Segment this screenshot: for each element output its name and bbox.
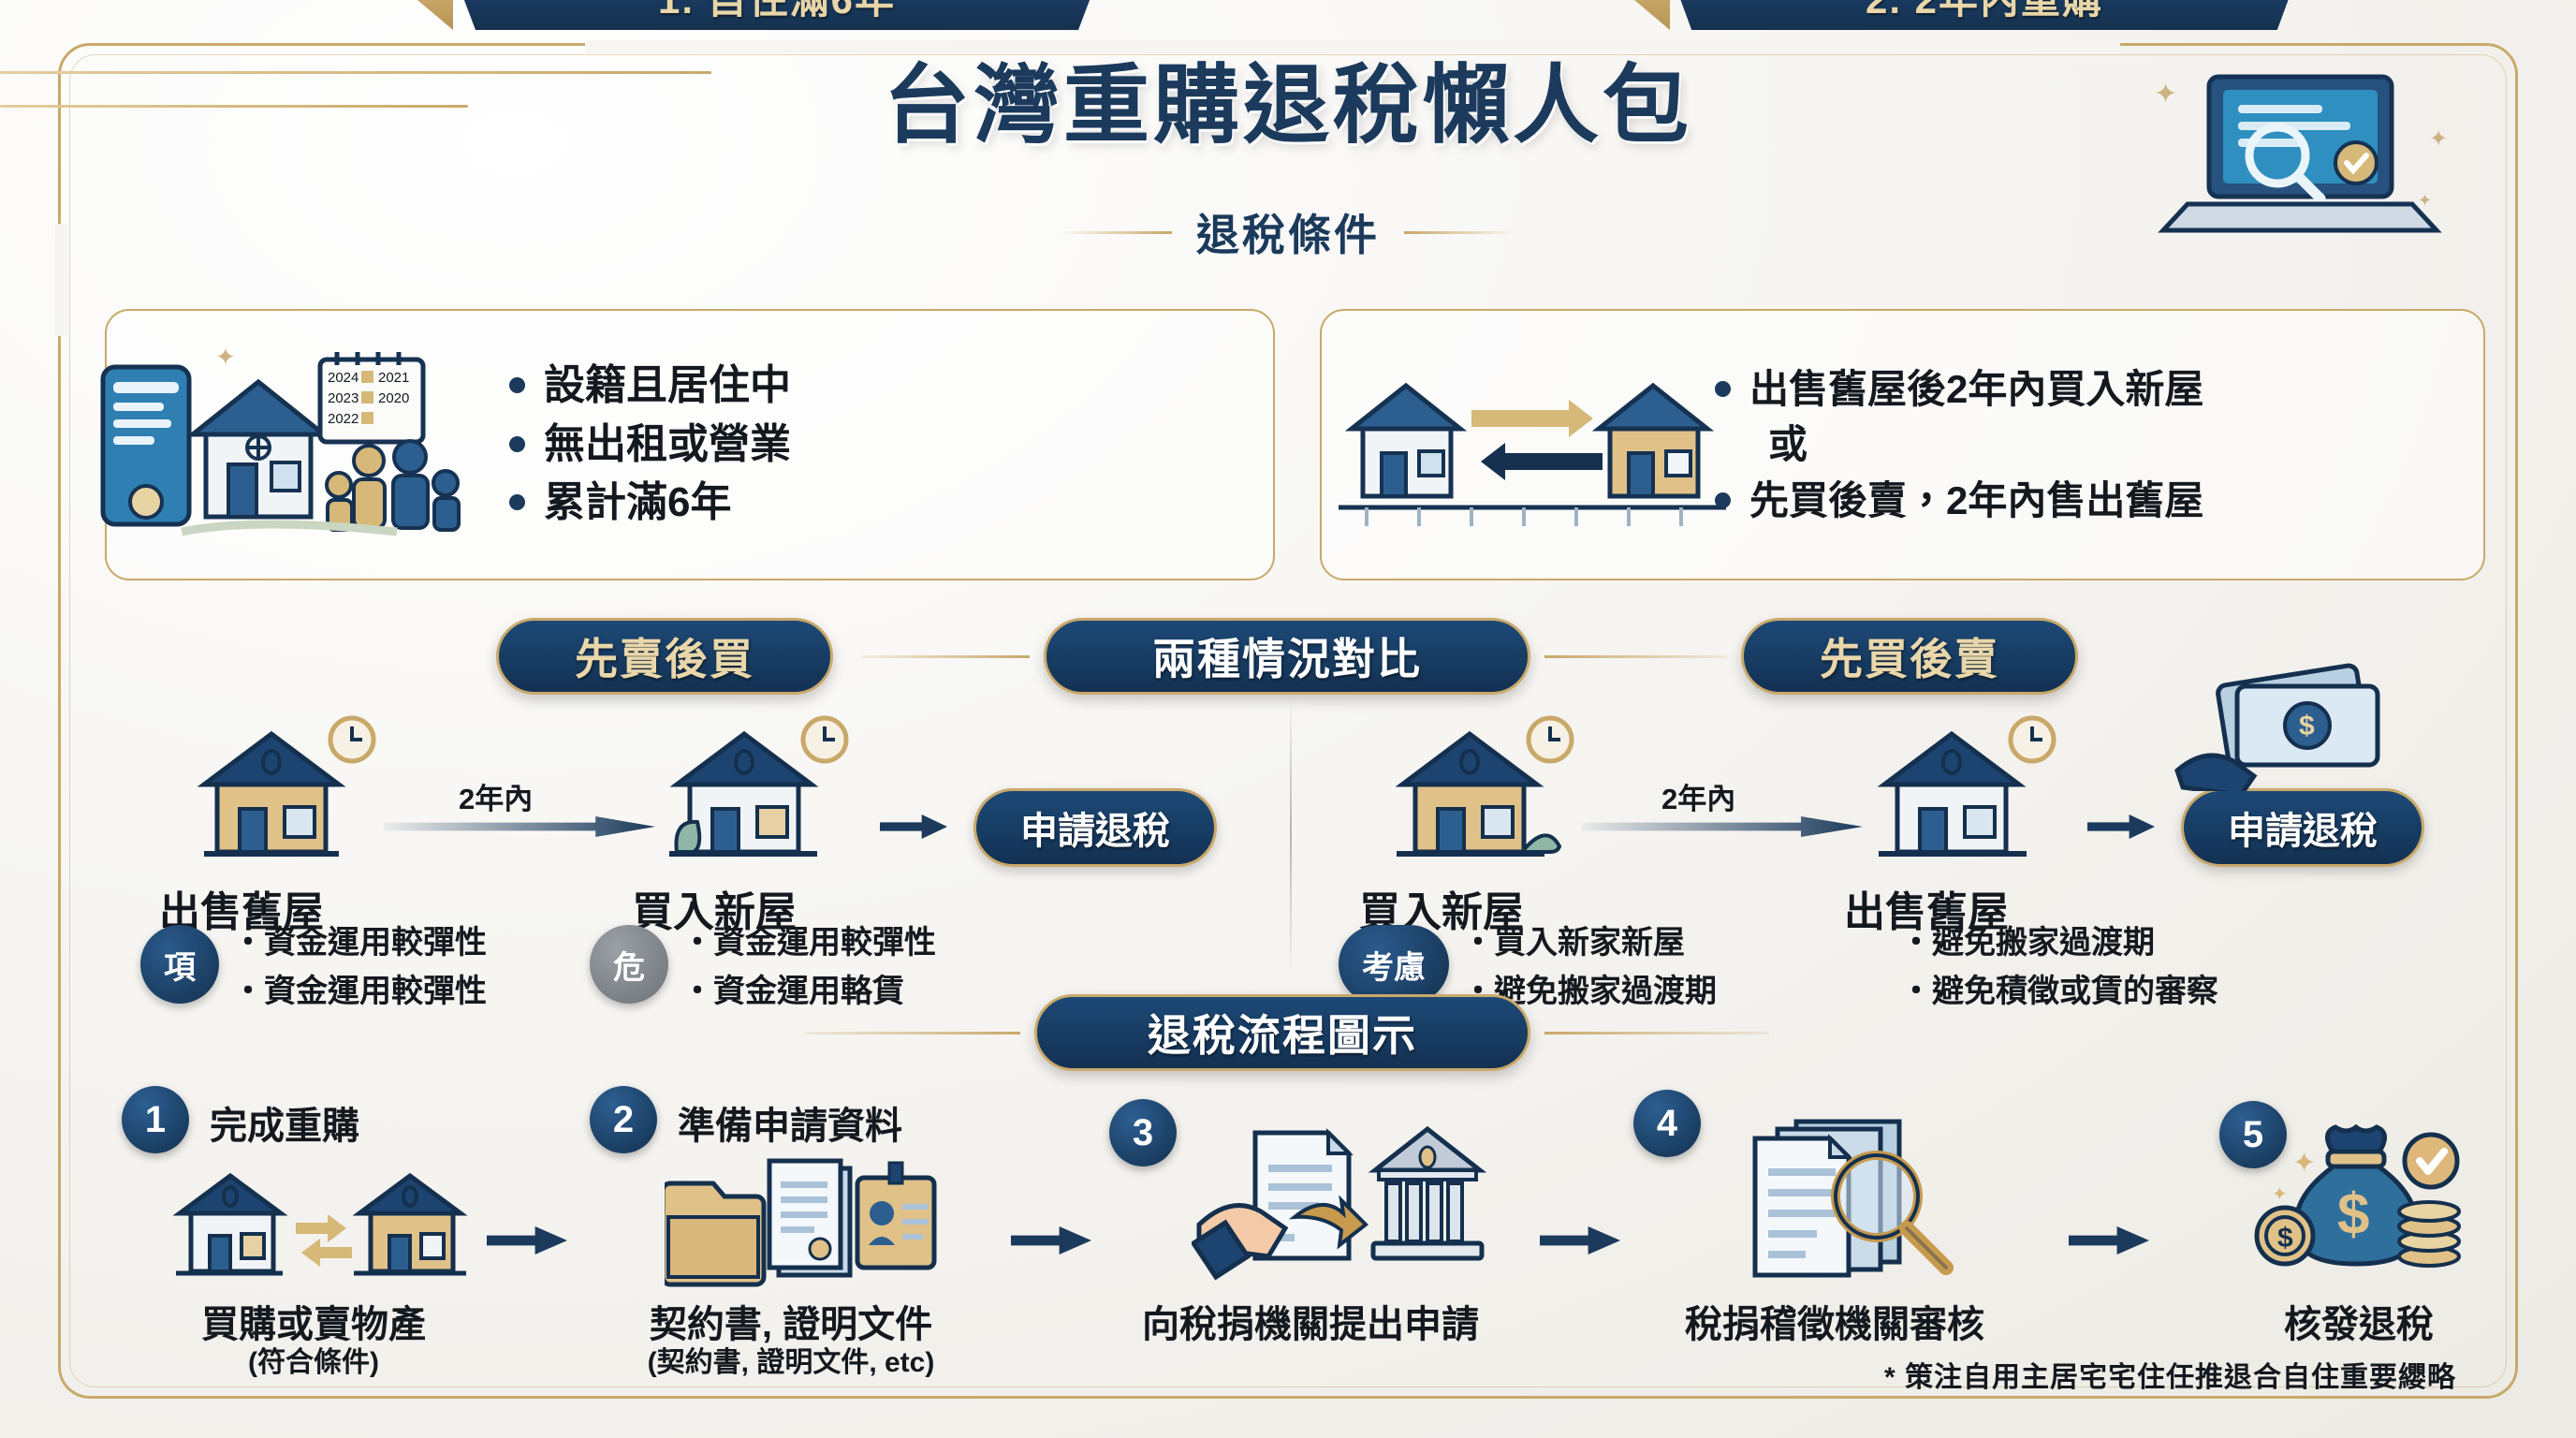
svg-text:$: $ [2299, 711, 2315, 741]
step-caption: 向稅捐機關提出申請 [1109, 1294, 1512, 1348]
right-arrow-label: 2年內 [1661, 775, 1735, 817]
svg-text:✦: ✦ [2154, 79, 2177, 110]
comparison-left: 出售舊屋 2年內 買入新屋 申請退稅 項 ・資金運用較彈性 ・資金運用較彈性 危… [140, 712, 1264, 992]
comparison-rule-right [1544, 655, 1727, 658]
svg-text:✦: ✦ [2292, 1148, 2316, 1179]
condition-2-ribbon: 2. 2年內重購 [1666, 0, 2303, 30]
left-long-arrow-icon [384, 816, 655, 837]
comparison-right: 買入新屋 2年內 出售舊屋 申請退稅 $ 考慮 ・買入新家新屋 ・避免搬家過渡期 [1339, 712, 2518, 992]
condition-card-2: 出售舊屋後2年內買入新屋 或 先買後賣，2年內售出舊屋 [1320, 309, 2485, 580]
condition-card-1: 20242021 20232020 2022 ✦ [105, 309, 1275, 580]
svg-text:2022: 2022 [328, 411, 359, 427]
list-item: ・資金運用輅賃 [681, 968, 936, 1017]
step-number-badge: 1 [122, 1086, 189, 1153]
pill-buy-first: 先買後賣 [1741, 618, 2078, 695]
flow-arrow-3-4 [1540, 1226, 1620, 1255]
new-house-icon [660, 712, 856, 861]
svg-text:✦: ✦ [2272, 1184, 2288, 1205]
bullet-item: 或 [1715, 417, 2461, 473]
list-item: ・買入新家新屋 [1462, 919, 1717, 968]
step-number-badge: 3 [1109, 1099, 1177, 1167]
left-arrow-label: 2年內 [459, 775, 533, 817]
bullet-item: 無出租或營業 [509, 416, 1251, 474]
subtitle: 退稅條件 [1196, 201, 1380, 263]
bullet-text: 無出租或營業 [544, 416, 791, 474]
bullet-dot-icon [509, 377, 525, 393]
laptop-search-icon: ✦ ✦ ✦ [2120, 66, 2485, 253]
left-result-arrow-icon [880, 814, 947, 839]
list-item: ・避免搬家過渡期 [1900, 919, 2218, 968]
bullet-text: 或 [1768, 417, 1808, 473]
pill-comparison-title: 兩種情況對比 [1044, 618, 1530, 695]
subtitle-rule-right [1404, 231, 1516, 234]
step-caption: 稅捐稽徵機關審核 [1633, 1294, 2036, 1348]
list-item: ・資金運用較彈性 [232, 919, 487, 968]
bullet-text: 設籍且居住中 [544, 357, 791, 415]
pill-flow-title: 退稅流程圖示 [1034, 994, 1530, 1071]
flow-arrow-4-5 [2069, 1226, 2149, 1255]
svg-text:2020: 2020 [378, 390, 409, 406]
bullet-dot-icon [1715, 381, 1731, 397]
list-item: ・資金運用較彈性 [232, 968, 487, 1017]
bullet-text: 累計滿6年 [544, 474, 731, 532]
list-item: ・避免積徵或賃的審察 [1900, 968, 2218, 1017]
step-subcaption: (符合條件) [112, 1339, 515, 1380]
condition-1-bullets: 設籍且居住中 無出租或營業 累計滿6年 [509, 357, 1273, 532]
condition-1-body: 20242021 20232020 2022 ✦ [107, 311, 1273, 579]
left-advantage-list: ・資金運用較彈性 ・資金運用較彈性 [232, 919, 487, 1016]
old-house-icon [187, 712, 384, 861]
left-badge-advantage: 項 [140, 925, 219, 1004]
bullet-text: 出售舊屋後2年內買入新屋 [1749, 361, 2203, 418]
step-title: 準備申請資料 [678, 1095, 902, 1150]
flow-steps: 1 完成重購 買購或賣物產 (符合條件) [112, 1086, 2471, 1367]
bullet-text: 先買後賣，2年內售出舊屋 [1749, 473, 2203, 529]
step-subcaption: (契約書, 證明文件, etc) [590, 1339, 992, 1380]
condition-2-bullets: 出售舊屋後2年內買入新屋 或 先買後賣，2年內售出舊屋 [1715, 361, 2483, 529]
bullet-dot-icon [509, 494, 525, 510]
left-badge-risk: 危 [590, 925, 668, 1004]
subtitle-rule-left [1060, 231, 1172, 234]
left-risk-list: ・資金運用較彈性 ・資金運用輅賃 [681, 919, 936, 1016]
ribbon-tail-left [412, 0, 453, 30]
bullet-item: 先買後賣，2年內售出舊屋 [1715, 473, 2461, 529]
flow-arrow-1-2 [487, 1226, 567, 1255]
footnote: * 策注自用主居宅宅住任推退合自住重要纓略 [1884, 1354, 2456, 1395]
svg-text:✦: ✦ [2429, 126, 2448, 152]
svg-text:✦: ✦ [215, 343, 236, 371]
bullet-item: 出售舊屋後2年內買入新屋 [1715, 361, 2461, 418]
bullet-item: 累計滿6年 [509, 474, 1251, 532]
step-number-badge: 4 [1633, 1090, 1701, 1157]
condition-1-illustration: 20242021 20232020 2022 ✦ [107, 311, 509, 579]
right-long-arrow-icon [1582, 816, 1863, 837]
bullet-item: 設籍且居住中 [509, 357, 1251, 415]
comparison-rule-left [861, 655, 1030, 658]
right-badge-consider: 考慮 [1339, 925, 1449, 1004]
step-number-badge: 2 [590, 1086, 657, 1153]
cash-hand-icon: $ [2172, 660, 2406, 791]
flow-rule-left [805, 1032, 1020, 1034]
condition-2-illustration [1322, 311, 1715, 579]
right-apply-tag: 申請退稅 [2181, 788, 2424, 867]
money-bag-coins-check-icon: $ $ ✦ ✦ [2251, 1120, 2476, 1298]
list-item: ・資金運用較彈性 [681, 919, 936, 968]
new-house-icon [1385, 712, 1582, 861]
svg-text:2021: 2021 [378, 370, 409, 386]
left-apply-tag: 申請退稅 [973, 788, 1217, 867]
documents-magnifier-icon [1736, 1116, 1980, 1294]
flow-rule-right [1544, 1032, 1769, 1034]
pill-sell-first: 先賣後買 [496, 618, 833, 695]
folder-documents-id-icon [665, 1155, 945, 1296]
svg-text:✦: ✦ [2418, 191, 2432, 210]
infographic-page: 台灣重購退稅懶人包 退稅條件 ✦ ✦ ✦ [0, 0, 2576, 1438]
comparison-divider [1290, 693, 1292, 974]
bullet-dot-icon [509, 436, 525, 452]
condition-2-body: 出售舊屋後2年內買入新屋 或 先買後賣，2年內售出舊屋 [1322, 311, 2483, 579]
svg-text:2024: 2024 [328, 370, 359, 386]
old-house-icon [1867, 712, 2064, 861]
step-title: 完成重購 [210, 1095, 359, 1150]
svg-text:$: $ [2277, 1223, 2293, 1254]
two-houses-swap-icon [168, 1153, 477, 1294]
ribbon-tail-right [1629, 0, 1670, 30]
svg-text:2023: 2023 [328, 390, 359, 406]
svg-text:$: $ [2337, 1182, 2369, 1247]
bullet-dot-icon [1715, 492, 1731, 508]
flow-arrow-2-3 [1011, 1226, 1091, 1255]
right-benefit-list: ・避免搬家過渡期 ・避免積徵或賃的審察 [1900, 919, 2218, 1016]
hand-document-bank-icon [1192, 1112, 1510, 1296]
step-caption: 核發退稅 [2158, 1294, 2560, 1348]
condition-1-ribbon: 1. 自住滿6年 [449, 0, 1105, 30]
right-result-arrow-icon [2087, 814, 2155, 839]
